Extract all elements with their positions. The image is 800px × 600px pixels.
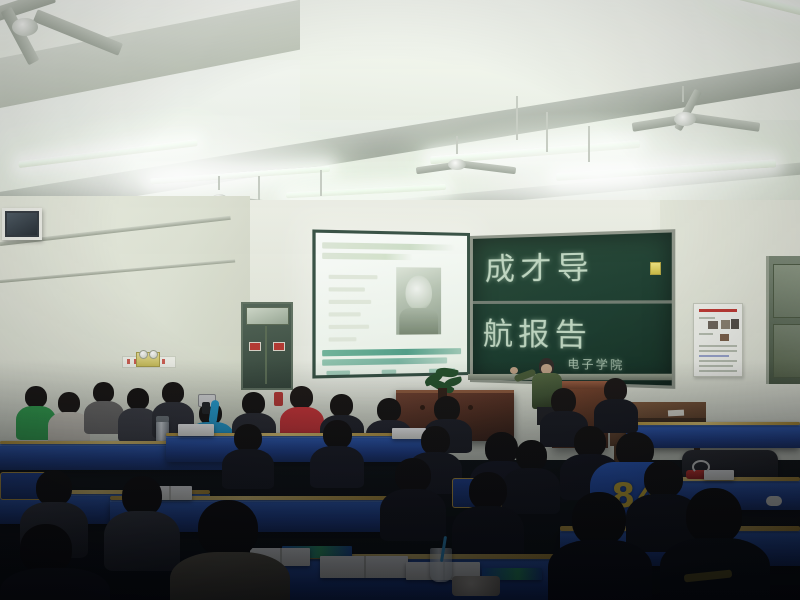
student bbox=[170, 500, 290, 600]
classroom-photo: 成才导 航报告 电子学院 bbox=[0, 0, 800, 600]
wall-monitor[interactable] bbox=[2, 208, 42, 240]
classroom-door-right[interactable] bbox=[766, 256, 800, 384]
ceiling-fan bbox=[418, 148, 528, 190]
potted-plant bbox=[420, 368, 466, 398]
student bbox=[104, 476, 180, 568]
ceiling-fan bbox=[0, 0, 160, 70]
blackboard-text-line-3: 电子学院 bbox=[567, 355, 624, 373]
slide-portrait-photo bbox=[396, 267, 441, 335]
light-hanger bbox=[546, 112, 548, 152]
light-hanger bbox=[516, 96, 518, 140]
open-notebook bbox=[178, 424, 214, 436]
classroom-door-left[interactable] bbox=[241, 302, 293, 390]
blackboard-text-line-2: 航报告 bbox=[483, 309, 593, 355]
blackboard-text-line-1: 成才导 bbox=[485, 241, 595, 289]
light-hanger bbox=[588, 126, 590, 162]
student bbox=[548, 492, 652, 600]
student bbox=[380, 458, 446, 538]
emergency-light bbox=[136, 352, 160, 367]
open-notebook bbox=[704, 470, 734, 480]
yellow-wall-sign bbox=[650, 262, 661, 275]
ceiling-fan bbox=[636, 96, 776, 150]
presenter-hand bbox=[510, 367, 518, 374]
paper-on-table bbox=[668, 410, 684, 417]
blackboard-divider bbox=[473, 300, 672, 304]
student bbox=[594, 378, 638, 430]
snack-container bbox=[452, 576, 500, 596]
student bbox=[0, 524, 110, 600]
mobile-phone[interactable] bbox=[202, 402, 210, 414]
slide-title-line bbox=[322, 242, 455, 251]
light-hanger bbox=[258, 176, 260, 200]
student bbox=[452, 472, 524, 560]
student bbox=[222, 424, 274, 486]
slide-title-line bbox=[322, 253, 413, 261]
thermos-cap bbox=[156, 416, 169, 422]
student bbox=[310, 420, 364, 484]
mobile-phone[interactable] bbox=[274, 392, 283, 406]
blackboard: 成才导 航报告 电子学院 bbox=[470, 229, 675, 389]
projection-screen bbox=[312, 229, 470, 378]
wall-notice-poster bbox=[693, 303, 743, 377]
chalk-tray bbox=[468, 374, 672, 381]
light-hanger bbox=[320, 170, 322, 196]
student bbox=[660, 488, 770, 600]
open-notebook bbox=[320, 556, 408, 578]
